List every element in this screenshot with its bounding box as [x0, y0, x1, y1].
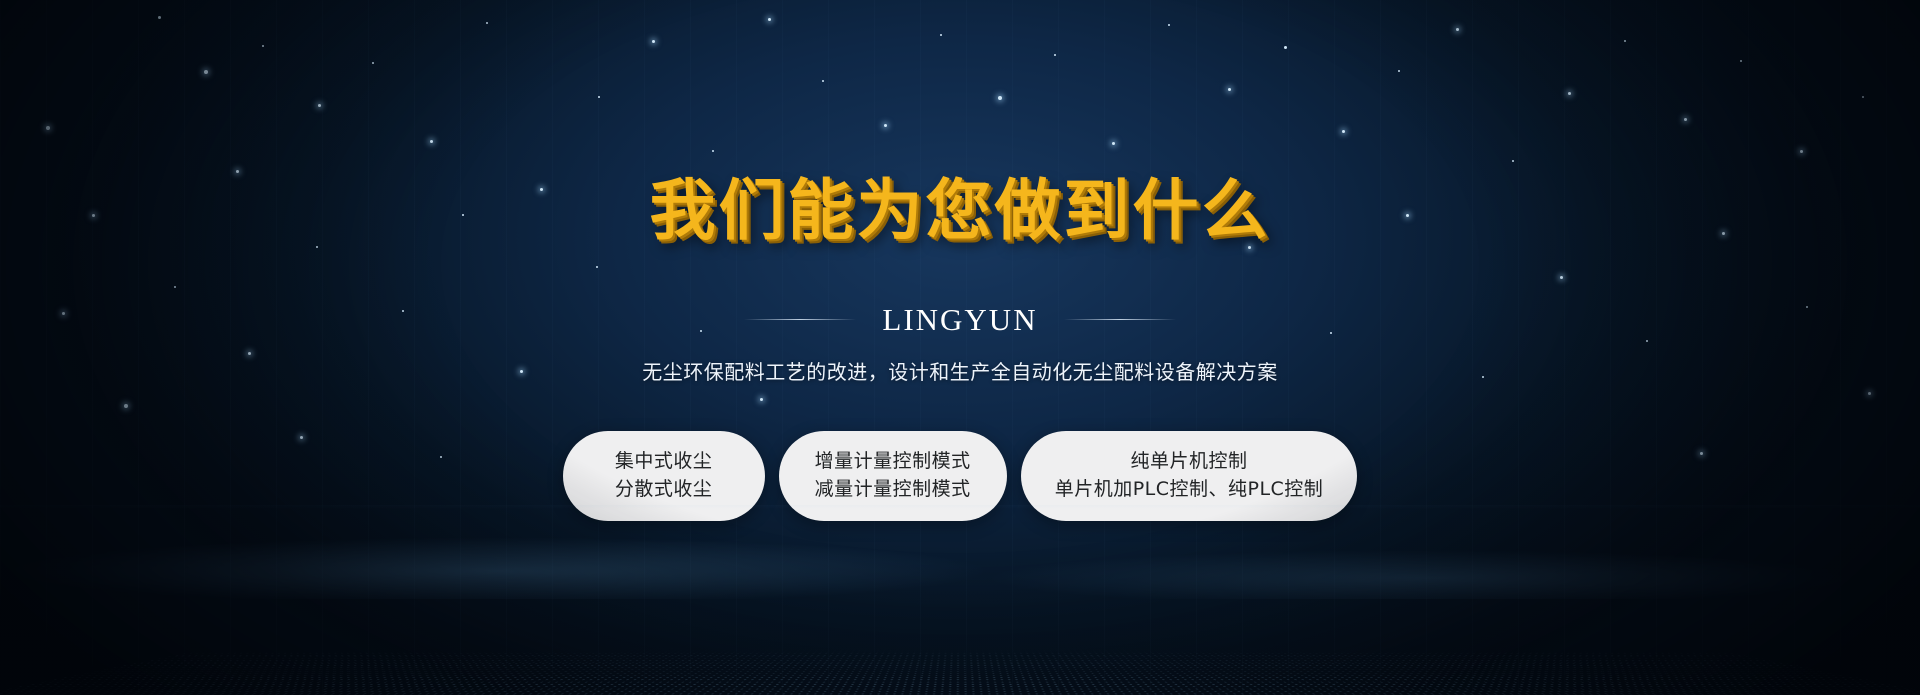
hero-description: 无尘环保配料工艺的改进，设计和生产全自动化无尘配料设备解决方案 — [642, 356, 1278, 385]
hero-banner: 我们能为您做到什么 LINGYUN 无尘环保配料工艺的改进，设计和生产全自动化无… — [0, 0, 1920, 695]
pill-line-primary: 集中式收尘 — [615, 452, 713, 471]
pill-line-primary: 增量计量控制模式 — [815, 452, 971, 471]
page-title: 我们能为您做到什么 — [650, 176, 1271, 245]
dot-grid-surface — [0, 648, 1920, 695]
brand-name-en: LINGYUN — [882, 302, 1037, 338]
pill-line-secondary: 分散式收尘 — [615, 480, 713, 499]
horizon-glow — [0, 505, 1920, 509]
brand-divider-row: LINGYUN — [744, 302, 1175, 338]
pill-line-secondary: 单片机加PLC控制、纯PLC控制 — [1055, 480, 1324, 499]
pill-line-primary: 纯单片机控制 — [1130, 452, 1247, 471]
bottom-wave-grid — [0, 505, 1920, 695]
wave-glow — [0, 529, 1920, 599]
pill-line-secondary: 减量计量控制模式 — [815, 480, 971, 499]
divider-line-right — [1064, 319, 1176, 320]
divider-line-left — [744, 319, 856, 320]
